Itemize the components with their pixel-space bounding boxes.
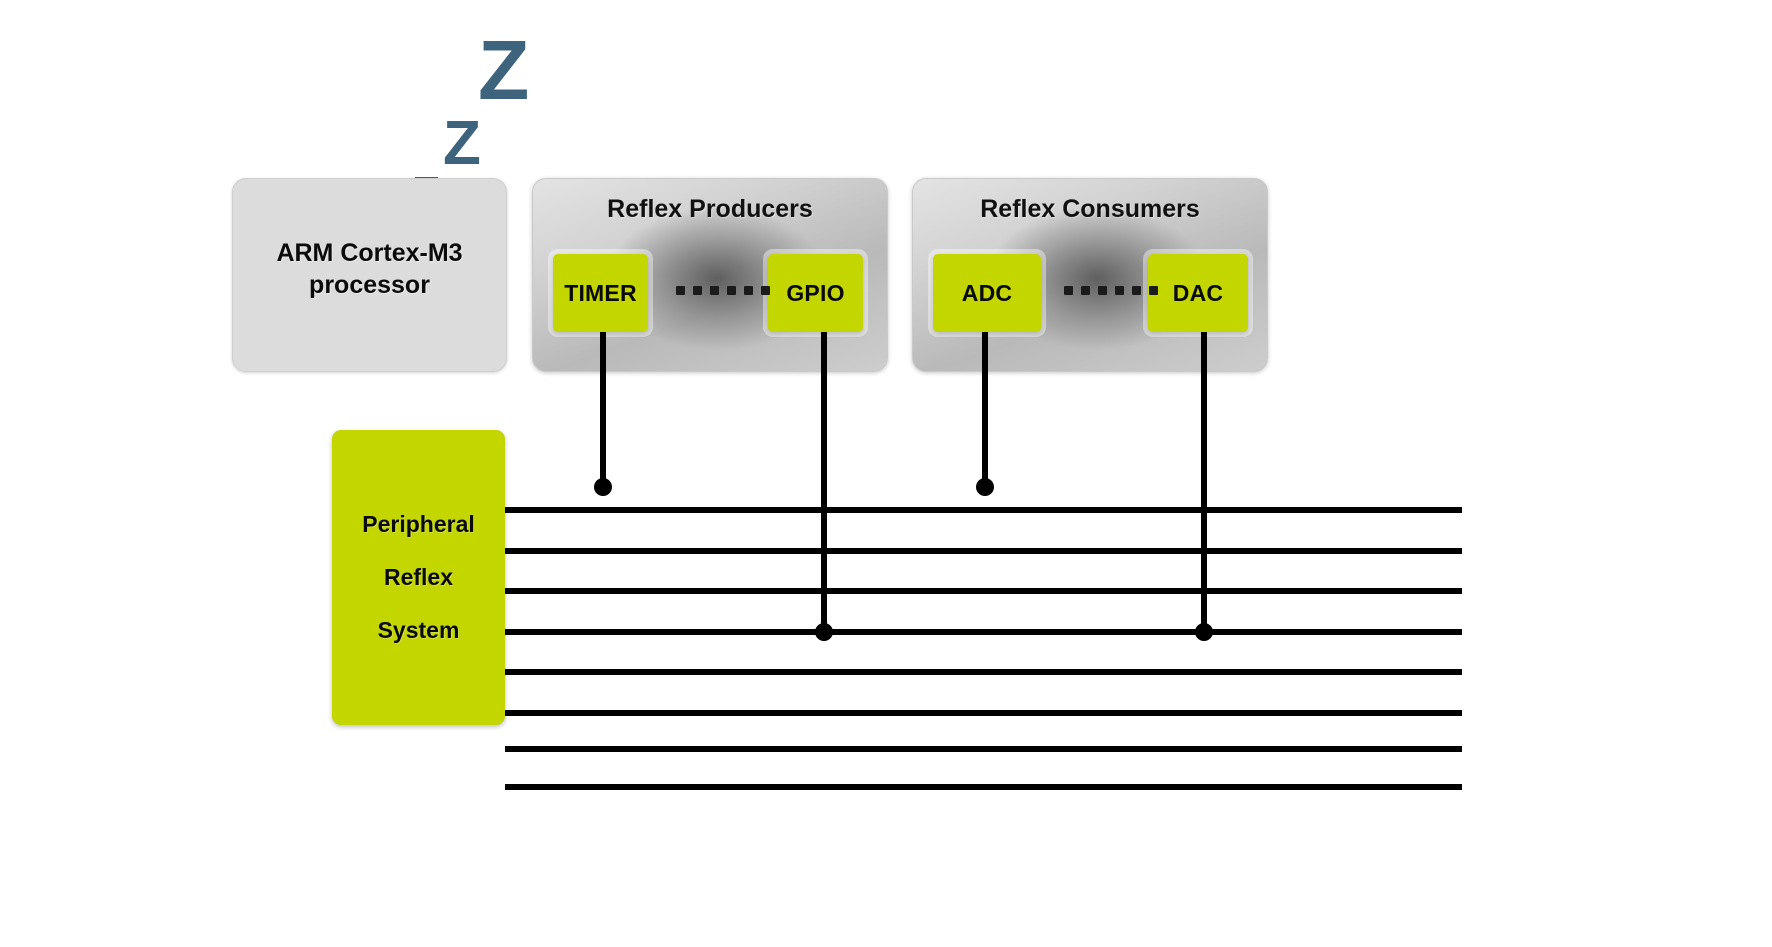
reflex-bus-wiring <box>0 0 1772 947</box>
diagram-canvas: Z Z Z ARM Cortex-M3 processor Reflex Pro… <box>0 0 1772 947</box>
junction-dot-timer <box>594 478 612 496</box>
junction-dot-adc <box>976 478 994 496</box>
junction-dot-dac <box>1195 623 1213 641</box>
junction-dot-gpio <box>815 623 833 641</box>
